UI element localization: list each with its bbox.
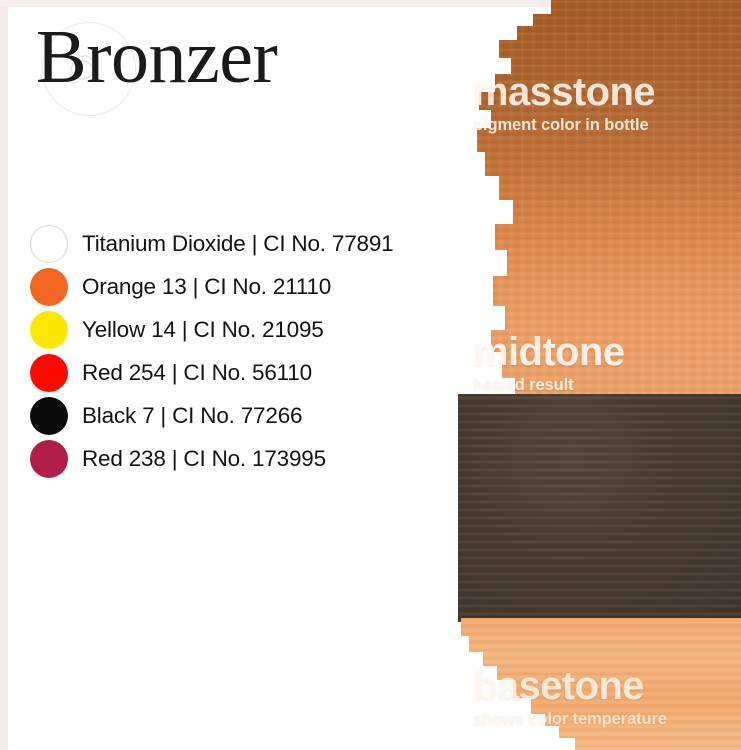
page-title: Bronzer	[36, 14, 277, 100]
basetone-caption: basetone shows color temperature	[473, 666, 667, 728]
swatch-panel: masstone pigment color in bottle midtone…	[455, 0, 741, 750]
list-item: Yellow 14 | CI No. 21095	[30, 308, 450, 351]
midtone-caption: midtone healed result	[473, 332, 624, 394]
pigment-label: Red 254 | CI No. 56110	[82, 360, 312, 386]
pigment-label: Titanium Dioxide | CI No. 77891	[82, 231, 393, 257]
masstone-caption: masstone pigment color in bottle	[473, 72, 655, 134]
tone-subtitle: shows color temperature	[473, 710, 667, 728]
left-column: Bronzer Titanium Dioxide | CI No. 77891 …	[0, 0, 460, 750]
list-item: Orange 13 | CI No. 21110	[30, 265, 450, 308]
tone-title: midtone	[473, 332, 624, 372]
list-item: Red 254 | CI No. 56110	[30, 351, 450, 394]
brush-grain-texture	[458, 394, 741, 622]
pigment-swatch-dot	[30, 397, 68, 435]
list-item: Red 238 | CI No. 173995	[30, 437, 450, 480]
pigment-label: Red 238 | CI No. 173995	[82, 446, 326, 472]
pigment-label: Orange 13 | CI No. 21110	[82, 274, 331, 300]
pigment-swatch-dot	[30, 268, 68, 306]
dark-brown-block	[458, 394, 741, 622]
bronzer-pigment-card: Bronzer Titanium Dioxide | CI No. 77891 …	[0, 0, 741, 750]
tone-subtitle: healed result	[473, 376, 624, 394]
pigment-list: Titanium Dioxide | CI No. 77891 Orange 1…	[30, 222, 450, 480]
tone-title: basetone	[473, 666, 667, 706]
pigment-swatch-dot	[30, 225, 68, 263]
pigment-swatch-dot	[30, 354, 68, 392]
list-item: Titanium Dioxide | CI No. 77891	[30, 222, 450, 265]
tone-title: masstone	[473, 72, 655, 112]
tone-subtitle: pigment color in bottle	[473, 116, 655, 134]
pigment-swatch-dot	[30, 440, 68, 478]
list-item: Black 7 | CI No. 77266	[30, 394, 450, 437]
pigment-label: Yellow 14 | CI No. 21095	[82, 317, 324, 343]
pigment-label: Black 7 | CI No. 77266	[82, 403, 302, 429]
pigment-swatch-dot	[30, 311, 68, 349]
